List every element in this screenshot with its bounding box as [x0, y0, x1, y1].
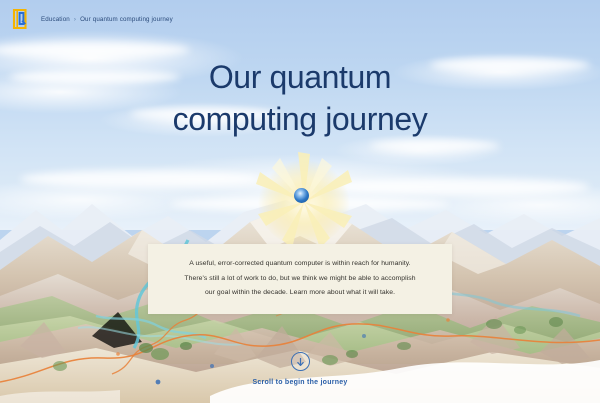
quantum-ai-book-logo-icon[interactable]	[11, 8, 30, 30]
cloud-wisp	[20, 170, 260, 188]
breadcrumb-item-education[interactable]: Education	[41, 16, 70, 23]
quantum-orb-icon	[294, 188, 309, 203]
intro-text-card: A useful, error-corrected quantum comput…	[148, 244, 452, 314]
breadcrumb-separator-icon: ›	[74, 16, 76, 23]
breadcrumb: Education › Our quantum computing journe…	[41, 16, 173, 23]
intro-text-line-2: There's still a lot of work to do, but w…	[184, 272, 415, 287]
cloud-wisp	[330, 178, 590, 196]
page-title-line-2: computing journey	[0, 98, 600, 140]
cloud-wisp	[370, 140, 500, 151]
page-root: Education › Our quantum computing journe…	[0, 0, 600, 403]
scroll-cta-label: Scroll to begin the journey	[252, 379, 347, 386]
site-header: Education › Our quantum computing journe…	[0, 0, 600, 38]
page-title: Our quantum computing journey	[0, 56, 600, 140]
intro-text-line-1: A useful, error-corrected quantum comput…	[189, 257, 410, 272]
intro-text-line-3: our goal within the decade. Learn more a…	[205, 286, 395, 301]
page-title-line-1: Our quantum	[0, 56, 600, 98]
scroll-to-begin-cta[interactable]: Scroll to begin the journey	[0, 352, 600, 386]
breadcrumb-item-current: Our quantum computing journey	[80, 16, 173, 23]
arrow-down-circle-icon[interactable]	[291, 352, 310, 371]
